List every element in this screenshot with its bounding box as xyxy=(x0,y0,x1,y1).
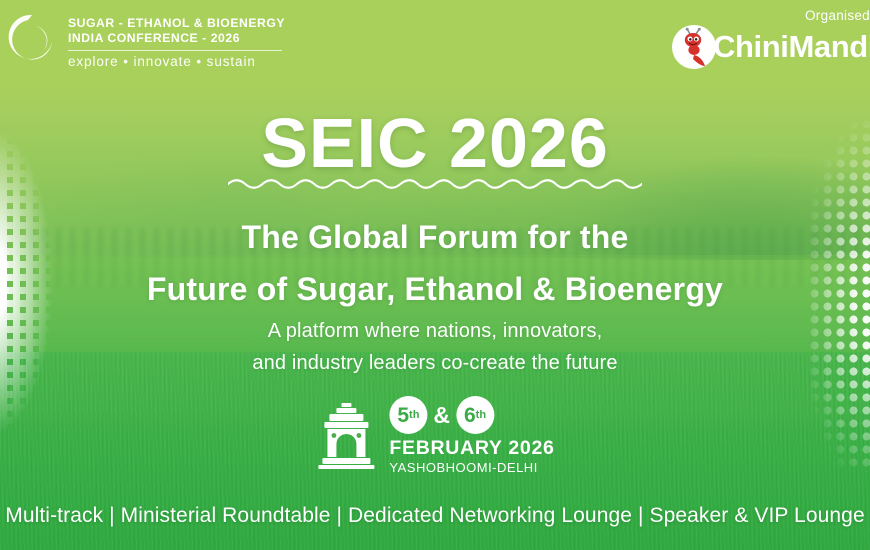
event-month-year: FEBRUARY 2026 xyxy=(389,437,554,459)
day-badge-first: 5th xyxy=(389,396,427,434)
organiser-block: Organised xyxy=(672,8,870,69)
event-venue: YASHOBHOOMI-DELHI xyxy=(389,459,554,476)
brand-line-1: SUGAR - ETHANOL & BIOENERGY xyxy=(68,16,285,31)
features-bar: Multi-track | Ministerial Roundtable | D… xyxy=(0,482,870,550)
subtitle-line-2: Future of Sugar, Ethanol & Bioenergy xyxy=(0,271,870,308)
day-first-number: 5 xyxy=(397,405,409,426)
features-text: Multi-track | Ministerial Roundtable | D… xyxy=(5,504,865,528)
conference-brand-text: SUGAR - ETHANOL & BIOENERGY INDIA CONFER… xyxy=(68,10,285,69)
day-badge-second: 6th xyxy=(456,396,494,434)
wavy-line-divider-icon xyxy=(228,176,642,192)
chinimandi-wordmark: ChiniMandi xyxy=(713,29,870,65)
event-banner: SUGAR - ETHANOL & BIOENERGY INDIA CONFER… xyxy=(0,0,870,550)
day-separator: & xyxy=(433,402,450,429)
event-title: SEIC 2026 xyxy=(0,104,870,182)
india-gate-icon xyxy=(315,402,377,470)
banner-header: SUGAR - ETHANOL & BIOENERGY INDIA CONFER… xyxy=(0,0,870,86)
event-days-row: 5th & 6th xyxy=(389,396,554,434)
conference-brand-lockup: SUGAR - ETHANOL & BIOENERGY INDIA CONFER… xyxy=(6,10,285,69)
organised-by-label: Organised xyxy=(672,8,870,23)
tagline-line-2: and industry leaders co-create the futur… xyxy=(0,352,870,375)
chinimandi-logo[interactable]: ChiniMandi xyxy=(672,25,870,69)
chinimandi-ant-icon xyxy=(672,25,716,69)
day-first-suffix: th xyxy=(409,410,419,421)
subtitle-line-1: The Global Forum for the xyxy=(0,219,870,256)
event-date-text: 5th & 6th FEBRUARY 2026 YASHOBHOOMI-DELH… xyxy=(389,396,554,476)
day-second-suffix: th xyxy=(476,410,486,421)
day-second-number: 6 xyxy=(464,405,476,426)
brand-tagline: explore • innovate • sustain xyxy=(68,54,285,69)
event-date-block: 5th & 6th FEBRUARY 2026 YASHOBHOOMI-DELH… xyxy=(315,396,554,476)
brand-line-2: INDIA CONFERENCE - 2026 xyxy=(68,31,285,46)
circular-swirl-logo-icon xyxy=(6,10,58,68)
brand-divider xyxy=(68,50,282,51)
tagline-line-1: A platform where nations, innovators, xyxy=(0,320,870,343)
